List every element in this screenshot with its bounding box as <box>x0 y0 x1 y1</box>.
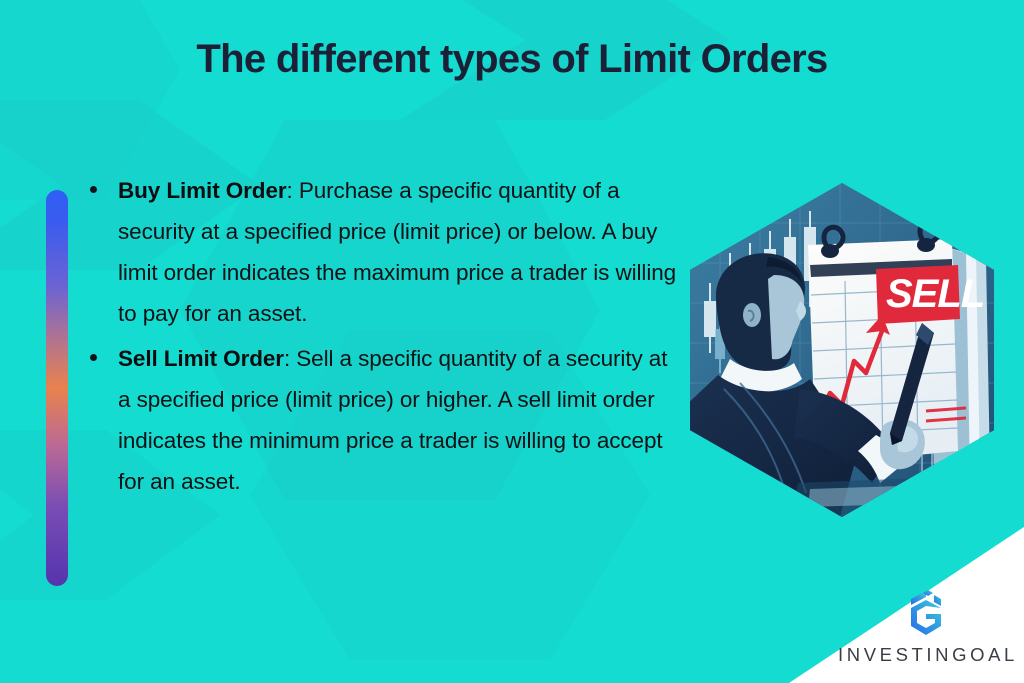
bullet-text-sell-limit-order: Sell Limit Order: Sell a specific quanti… <box>118 338 680 502</box>
bullet-lead-label: Sell Limit Order <box>118 346 284 371</box>
infographic-canvas: The different types of Limit Orders Buy … <box>0 0 1024 683</box>
investingoal-logo[interactable]: INVESTINGOAL <box>838 588 1014 666</box>
investingoal-hex-g-icon <box>903 588 949 638</box>
bullet-lead-label: Buy Limit Order <box>118 178 287 203</box>
sell-label: SELL <box>876 265 984 324</box>
bullet-dot-icon <box>90 354 97 361</box>
bullet-dot-icon <box>90 186 97 193</box>
bullet-separator: : <box>287 178 299 203</box>
bullet-text-buy-limit-order: Buy Limit Order: Purchase a specific qua… <box>118 170 680 334</box>
list-item: Sell Limit Order: Sell a specific quanti… <box>90 338 680 502</box>
trader-illustration-artwork: SELL <box>690 183 994 517</box>
limit-order-bullet-list: Buy Limit Order: Purchase a specific qua… <box>90 170 680 506</box>
logo-wordmark: INVESTINGOAL <box>838 644 1014 666</box>
page-title: The different types of Limit Orders <box>0 36 1024 82</box>
bullet-separator: : <box>284 346 296 371</box>
list-item: Buy Limit Order: Purchase a specific qua… <box>90 170 680 334</box>
trader-illustration: SELL <box>690 183 994 517</box>
gradient-accent-bar <box>46 190 68 586</box>
svg-text:SELL: SELL <box>886 272 984 316</box>
